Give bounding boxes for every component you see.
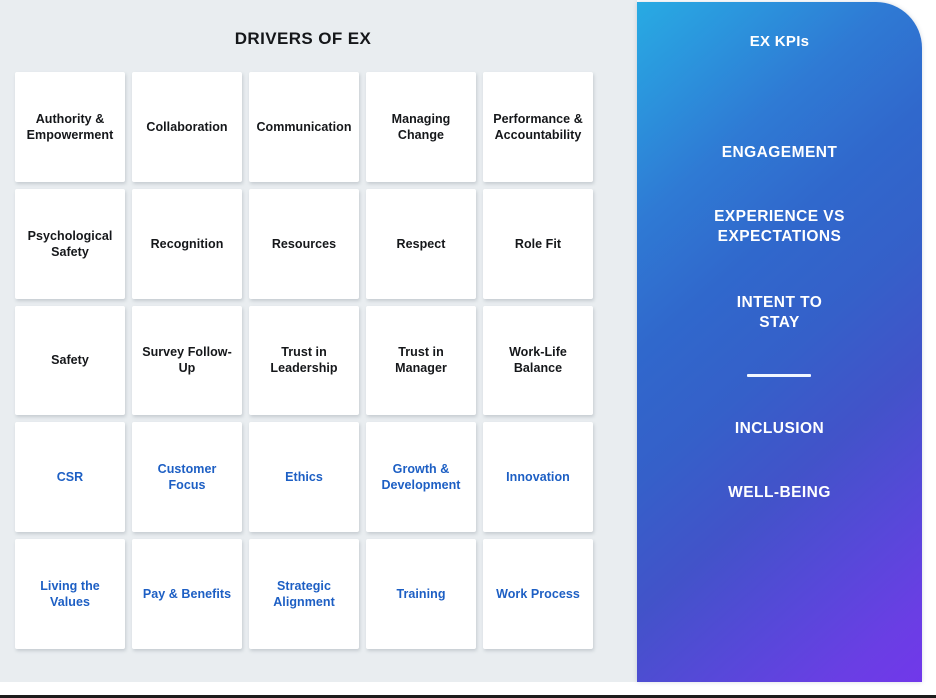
driver-card[interactable]: Training [366,539,476,649]
drivers-panel: DRIVERS OF EX Authority & Empowerment Co… [0,0,637,682]
driver-card[interactable]: Recognition [132,189,242,299]
driver-card[interactable]: Innovation [483,422,593,532]
kpi-item-experience-vs-expectations[interactable]: EXPERIENCE VS EXPECTATIONS [637,207,922,247]
driver-card[interactable]: Respect [366,189,476,299]
drivers-grid: Authority & Empowerment Collaboration Co… [15,72,593,649]
driver-card[interactable]: Collaboration [132,72,242,182]
driver-card[interactable]: Trust in Manager [366,306,476,416]
slide-canvas: DRIVERS OF EX Authority & Empowerment Co… [0,0,936,698]
driver-card[interactable]: Managing Change [366,72,476,182]
driver-card[interactable]: Resources [249,189,359,299]
kpi-item-inclusion[interactable]: INCLUSION [637,419,922,439]
kpi-item-well-being[interactable]: WELL-BEING [637,483,922,503]
driver-card[interactable]: Communication [249,72,359,182]
driver-card[interactable]: Customer Focus [132,422,242,532]
driver-card[interactable]: Work-Life Balance [483,306,593,416]
driver-card[interactable]: Ethics [249,422,359,532]
kpi-divider-icon [747,374,811,377]
kpi-panel-title: EX KPIs [637,33,922,50]
driver-card[interactable]: Survey Follow-Up [132,306,242,416]
driver-card[interactable]: Growth & Development [366,422,476,532]
driver-card[interactable]: Work Process [483,539,593,649]
driver-card[interactable]: Trust in Leadership [249,306,359,416]
driver-card[interactable]: Authority & Empowerment [15,72,125,182]
driver-card[interactable]: Performance & Accountability [483,72,593,182]
driver-card[interactable]: CSR [15,422,125,532]
driver-card[interactable]: Living the Values [15,539,125,649]
kpi-item-engagement[interactable]: ENGAGEMENT [637,143,922,163]
driver-card[interactable]: Safety [15,306,125,416]
driver-card[interactable]: Psychological Safety [15,189,125,299]
kpi-item-intent-to-stay[interactable]: INTENT TO STAY [637,293,922,333]
driver-card[interactable]: Role Fit [483,189,593,299]
driver-card[interactable]: Strategic Alignment [249,539,359,649]
driver-card[interactable]: Pay & Benefits [132,539,242,649]
drivers-panel-title: DRIVERS OF EX [0,29,606,49]
kpi-panel: EX KPIs ENGAGEMENT EXPERIENCE VS EXPECTA… [637,2,922,682]
